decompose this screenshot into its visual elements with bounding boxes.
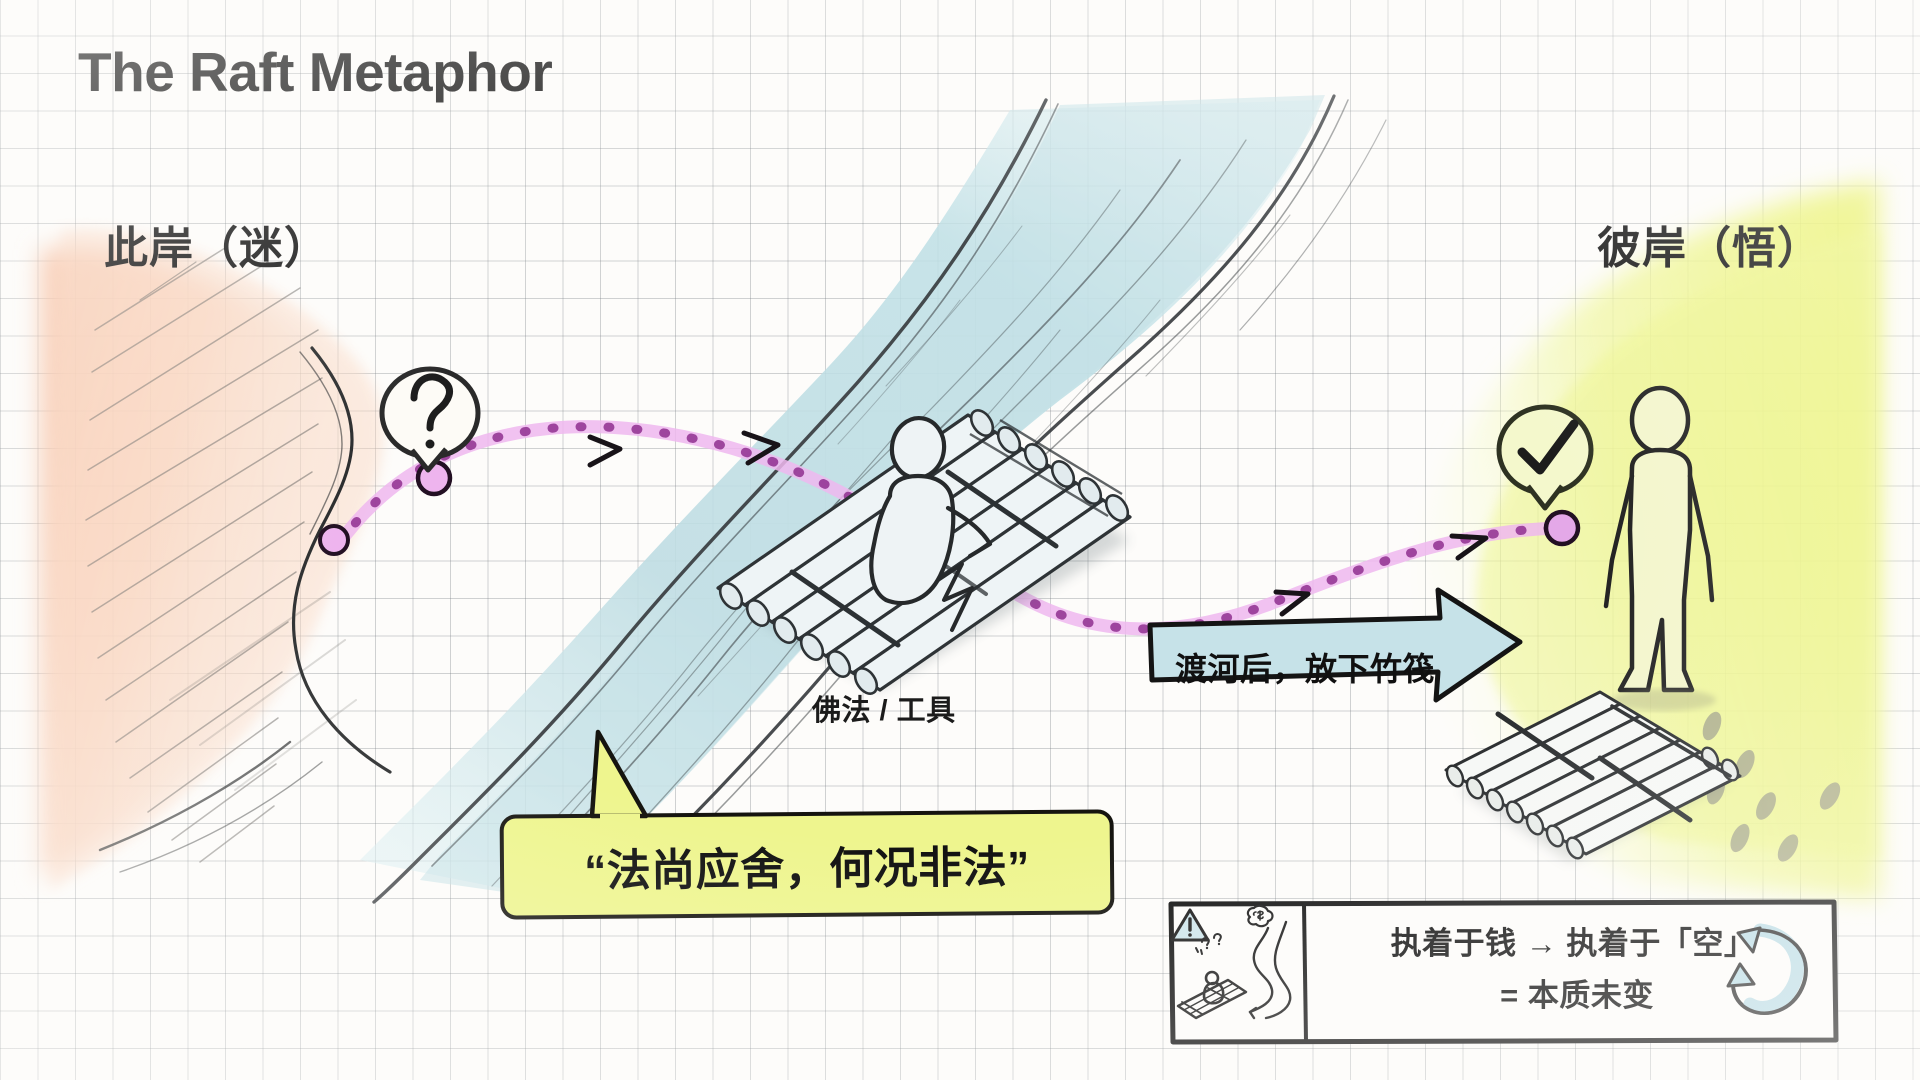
paper-vignette: [0, 0, 1920, 1080]
illustration-canvas: The Raft Metaphor 此岸（迷） 彼岸（悟） 佛法 / 工具 渡河…: [0, 0, 1920, 1080]
